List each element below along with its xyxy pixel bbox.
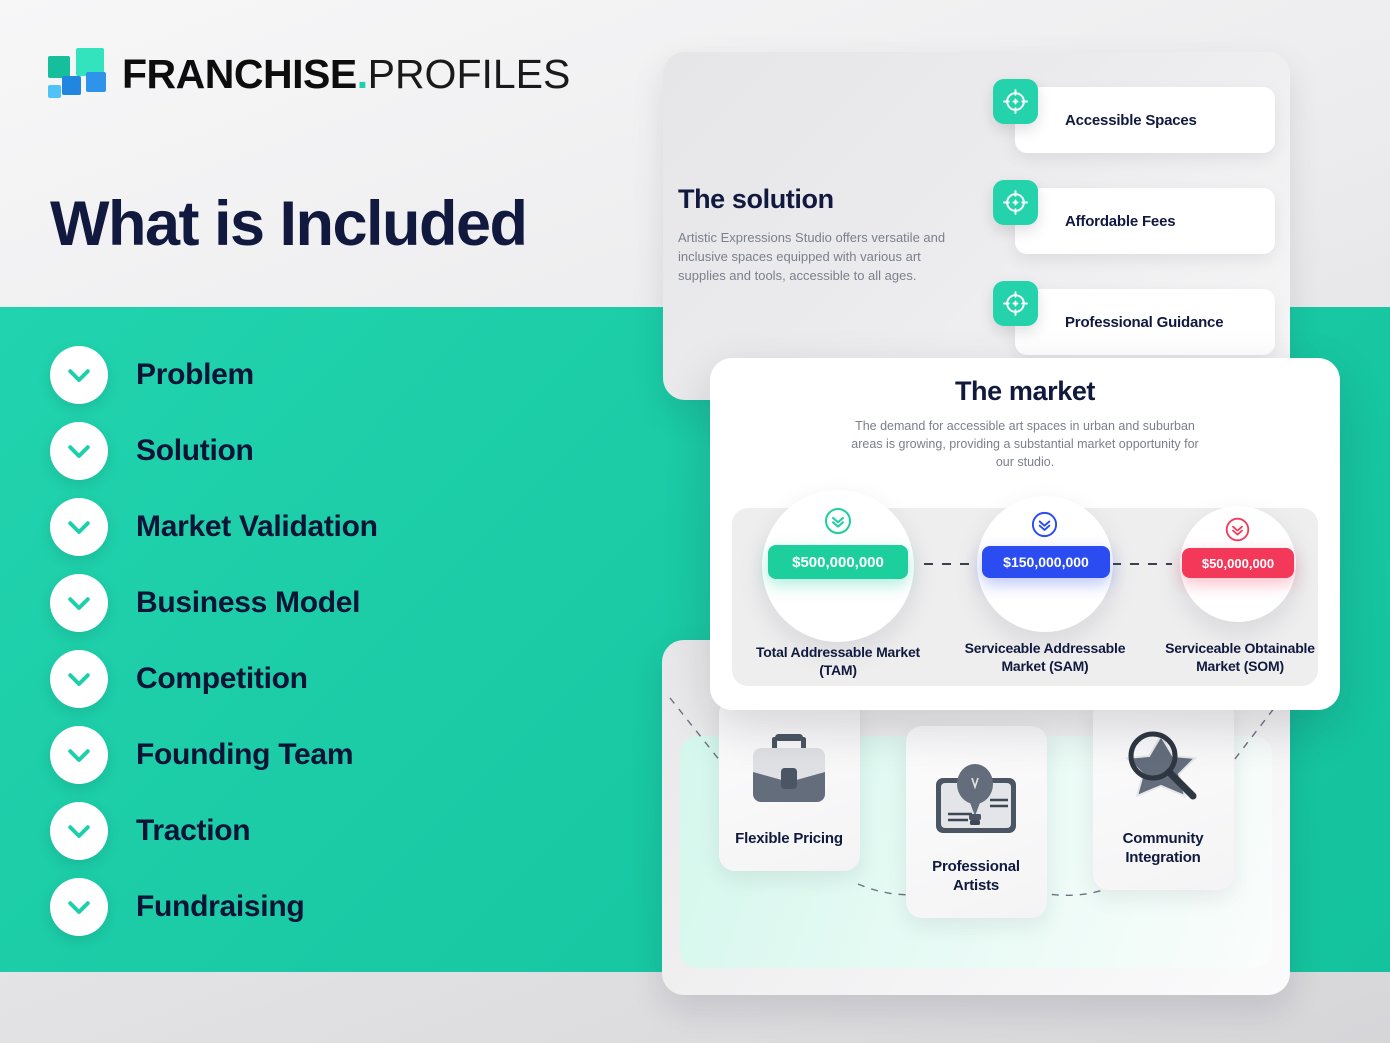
briefcase-icon — [743, 718, 835, 822]
list-item[interactable]: Market Validation — [50, 497, 378, 557]
list-item[interactable]: Professional Guidance — [993, 281, 1283, 340]
list-item[interactable]: Affordable Fees — [993, 180, 1283, 239]
market-caption-text: Serviceable Addressable Market (SAM) — [965, 640, 1126, 674]
solution-feature-list: Accessible Spaces Affordab — [993, 79, 1283, 340]
list-item-label: Business Model — [136, 586, 360, 620]
market-value-text: $50,000,000 — [1202, 556, 1274, 571]
list-item-label: Competition — [136, 662, 308, 696]
market-caption-som: Serviceable Obtainable Market (SOM) — [1150, 640, 1330, 675]
feature-tile[interactable]: Community Integration — [1093, 698, 1234, 890]
market-value-tam: $500,000,000 — [768, 545, 908, 579]
market-value-text: $150,000,000 — [1003, 554, 1089, 570]
list-item-label: Fundraising — [136, 890, 304, 924]
lightbulb-screen-icon — [928, 746, 1024, 850]
feature-tiles: Flexible Pricing — [662, 698, 1290, 918]
wordmark-light: PROFILES — [368, 51, 571, 98]
target-crosshair-icon — [993, 281, 1038, 326]
solution-feature-label: Professional Guidance — [1065, 314, 1223, 331]
list-item-label: Founding Team — [136, 738, 353, 772]
chevrons-down-circle-icon — [1224, 516, 1251, 543]
feature-label: Flexible Pricing — [735, 830, 843, 849]
included-list: Problem Solution Market Validation Busin… — [50, 345, 378, 937]
list-item[interactable]: Business Model — [50, 573, 378, 633]
squares-logo-icon — [48, 48, 106, 100]
solution-feature-label: Accessible Spaces — [1065, 112, 1197, 129]
feature-tile[interactable]: Professional Artists — [906, 726, 1047, 918]
chevron-down-icon — [50, 574, 108, 632]
solution-feature-pill: Professional Guidance — [1015, 289, 1275, 355]
chevron-down-icon — [50, 346, 108, 404]
list-item[interactable]: Founding Team — [50, 725, 378, 785]
chevron-down-icon — [50, 650, 108, 708]
solution-description: Artistic Expressions Studio offers versa… — [678, 229, 968, 286]
list-item-label: Traction — [136, 814, 250, 848]
chevron-down-icon — [50, 802, 108, 860]
list-item-label: Problem — [136, 358, 254, 392]
wordmark: FRANCHISE.PROFILES — [122, 51, 570, 98]
solution-feature-pill: Accessible Spaces — [1015, 87, 1275, 153]
list-item-label: Solution — [136, 434, 254, 468]
list-item[interactable]: Accessible Spaces — [993, 79, 1283, 138]
market-caption-sam: Serviceable Addressable Market (SAM) — [955, 640, 1135, 675]
market-description: The demand for accessible art spaces in … — [845, 417, 1205, 471]
list-item[interactable]: Fundraising — [50, 877, 378, 937]
market-title: The market — [710, 376, 1340, 407]
solution-slide-card[interactable]: The solution Artistic Expressions Studio… — [663, 52, 1290, 400]
feature-label: Community Integration — [1101, 830, 1226, 868]
feature-tile[interactable]: Flexible Pricing — [719, 698, 860, 871]
solution-feature-label: Affordable Fees — [1065, 213, 1175, 230]
list-item[interactable]: Competition — [50, 649, 378, 709]
market-caption-text: Total Addressable Market (TAM) — [756, 644, 920, 678]
target-crosshair-icon — [993, 180, 1038, 225]
chevrons-down-circle-icon — [823, 506, 853, 536]
chevrons-down-circle-icon — [1030, 510, 1059, 539]
market-value-som: $50,000,000 — [1182, 548, 1294, 578]
wordmark-bold: FRANCHISE — [122, 51, 357, 98]
target-crosshair-icon — [993, 79, 1038, 124]
market-slide-card[interactable]: The market The demand for accessible art… — [710, 358, 1340, 710]
award-magnifier-icon — [1115, 718, 1211, 822]
solution-feature-pill: Affordable Fees — [1015, 188, 1275, 254]
wordmark-dot: . — [357, 51, 368, 98]
chevron-down-icon — [50, 726, 108, 784]
market-value-sam: $150,000,000 — [982, 546, 1110, 578]
brand-logo[interactable]: FRANCHISE.PROFILES — [48, 48, 570, 100]
list-item[interactable]: Solution — [50, 421, 378, 481]
chevron-down-icon — [50, 422, 108, 480]
chevron-down-icon — [50, 878, 108, 936]
market-caption-tam: Total Addressable Market (TAM) — [748, 644, 928, 679]
market-caption-text: Serviceable Obtainable Market (SOM) — [1165, 640, 1315, 674]
solution-title: The solution — [678, 184, 968, 215]
feature-label: Professional Artists — [914, 858, 1039, 896]
list-item-label: Market Validation — [136, 510, 378, 544]
list-item[interactable]: Traction — [50, 801, 378, 861]
market-chart: $500,000,000 Total Addressable Market (T… — [732, 490, 1318, 686]
page-title: What is Included — [50, 188, 527, 260]
chevron-down-icon — [50, 498, 108, 556]
list-item[interactable]: Problem — [50, 345, 378, 405]
solution-header: The solution Artistic Expressions Studio… — [678, 184, 968, 286]
market-value-text: $500,000,000 — [792, 554, 884, 571]
